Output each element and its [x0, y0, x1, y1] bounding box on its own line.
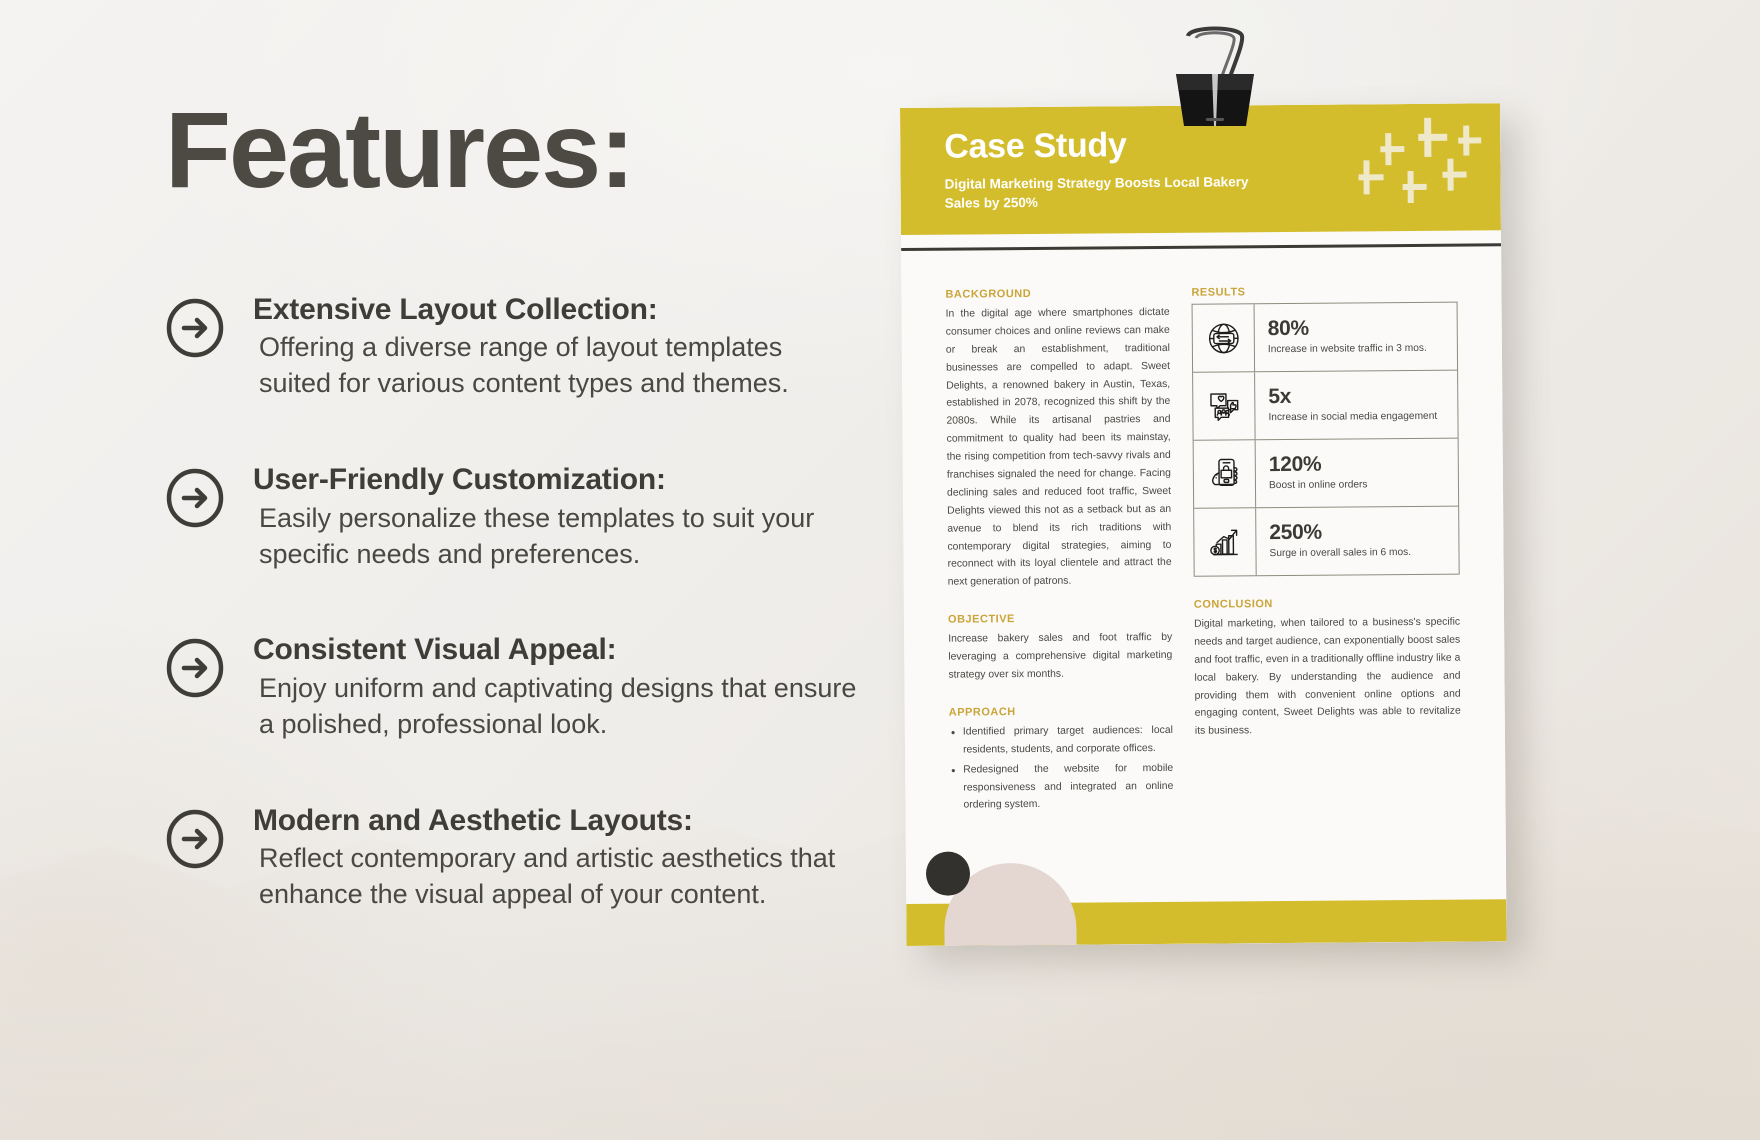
approach-list-item: Redesigned the website for mobile respon… [949, 760, 1173, 815]
features-panel: Features: Extensive Layout Collection: O… [0, 0, 900, 1140]
results-row: 120% Boost in online orders [1194, 439, 1459, 509]
approach-list-item: Identified primary target audiences: loc… [949, 722, 1173, 760]
document-right-column: RESULTS [1191, 285, 1461, 815]
arrow-right-circle-icon [165, 638, 225, 698]
result-value: 80% [1268, 317, 1449, 340]
feature-text-block: Extensive Layout Collection: Offering a … [253, 290, 860, 402]
results-info: 5x Increase in social media engagement [1255, 371, 1458, 440]
feature-description: Offering a diverse range of layout templ… [253, 330, 860, 402]
conclusion-section-text: Digital marketing, when tailored to a bu… [1194, 614, 1461, 741]
document-left-column: BACKGROUND In the digital age where smar… [945, 287, 1173, 817]
background-section-label: BACKGROUND [945, 287, 1169, 301]
background-section-text: In the digital age where smartphones dic… [946, 304, 1172, 592]
sparkle-decoration [1318, 111, 1489, 232]
feature-item-consistent-visual-appeal: Consistent Visual Appeal: Enjoy uniform … [165, 630, 860, 742]
social-engagement-icon [1193, 372, 1256, 439]
result-caption: Surge in overall sales in 6 mos. [1269, 546, 1450, 562]
result-caption: Increase in website traffic in 3 mos. [1268, 342, 1449, 358]
feature-heading: Consistent Visual Appeal: [253, 632, 860, 667]
sales-growth-chart-icon [1194, 508, 1257, 575]
result-value: 250% [1269, 521, 1450, 544]
mobile-order-icon [1194, 440, 1257, 507]
document-subtitle: Digital Marketing Strategy Boosts Local … [945, 172, 1275, 214]
arrow-right-circle-icon [165, 809, 225, 869]
result-caption: Increase in social media engagement [1268, 410, 1449, 426]
approach-list: Identified primary target audiences: loc… [949, 722, 1174, 815]
feature-description: Easily personalize these templates to su… [253, 501, 860, 573]
result-caption: Boost in online orders [1269, 478, 1450, 494]
results-row: 5x Increase in social media engagement [1193, 371, 1458, 441]
feature-item-modern-aesthetic-layouts: Modern and Aesthetic Layouts: Reflect co… [165, 801, 860, 913]
feature-heading: Modern and Aesthetic Layouts: [253, 803, 860, 838]
case-study-document: Case Study Digital Marketing Strategy Bo… [900, 103, 1507, 946]
feature-description: Enjoy uniform and captivating designs th… [253, 671, 860, 743]
circle-dot-decoration [926, 851, 970, 895]
arrow-right-circle-icon [165, 468, 225, 528]
feature-text-block: User-Friendly Customization: Easily pers… [253, 460, 860, 572]
feature-list: Extensive Layout Collection: Offering a … [165, 290, 860, 913]
feature-text-block: Modern and Aesthetic Layouts: Reflect co… [253, 801, 860, 913]
approach-section-label: APPROACH [949, 705, 1173, 719]
objective-section-label: OBJECTIVE [948, 612, 1172, 626]
document-page: Case Study Digital Marketing Strategy Bo… [900, 103, 1507, 946]
feature-item-extensive-layout-collection: Extensive Layout Collection: Offering a … [165, 290, 860, 402]
results-row: 250% Surge in overall sales in 6 mos. [1194, 507, 1459, 577]
feature-heading: User-Friendly Customization: [253, 462, 860, 497]
feature-text-block: Consistent Visual Appeal: Enjoy uniform … [253, 630, 860, 742]
results-table: 80% Increase in website traffic in 3 mos… [1192, 302, 1460, 577]
results-info: 250% Surge in overall sales in 6 mos. [1256, 507, 1459, 576]
feature-item-user-friendly-customization: User-Friendly Customization: Easily pers… [165, 460, 860, 572]
binder-clip-icon [1160, 22, 1270, 127]
results-section-label: RESULTS [1191, 285, 1457, 299]
globe-exchange-icon [1193, 304, 1256, 371]
page-title: Features: [165, 96, 860, 204]
conclusion-section-label: CONCLUSION [1194, 597, 1460, 611]
document-body: BACKGROUND In the digital age where smar… [901, 246, 1505, 817]
results-info: 120% Boost in online orders [1256, 439, 1459, 508]
feature-heading: Extensive Layout Collection: [253, 292, 860, 327]
results-info: 80% Increase in website traffic in 3 mos… [1255, 303, 1458, 372]
result-value: 5x [1268, 385, 1449, 408]
feature-description: Reflect contemporary and artistic aesthe… [253, 841, 860, 913]
arrow-right-circle-icon [165, 298, 225, 358]
result-value: 120% [1269, 453, 1450, 476]
objective-section-text: Increase bakery sales and foot traffic b… [948, 629, 1172, 684]
results-row: 80% Increase in website traffic in 3 mos… [1193, 303, 1458, 373]
